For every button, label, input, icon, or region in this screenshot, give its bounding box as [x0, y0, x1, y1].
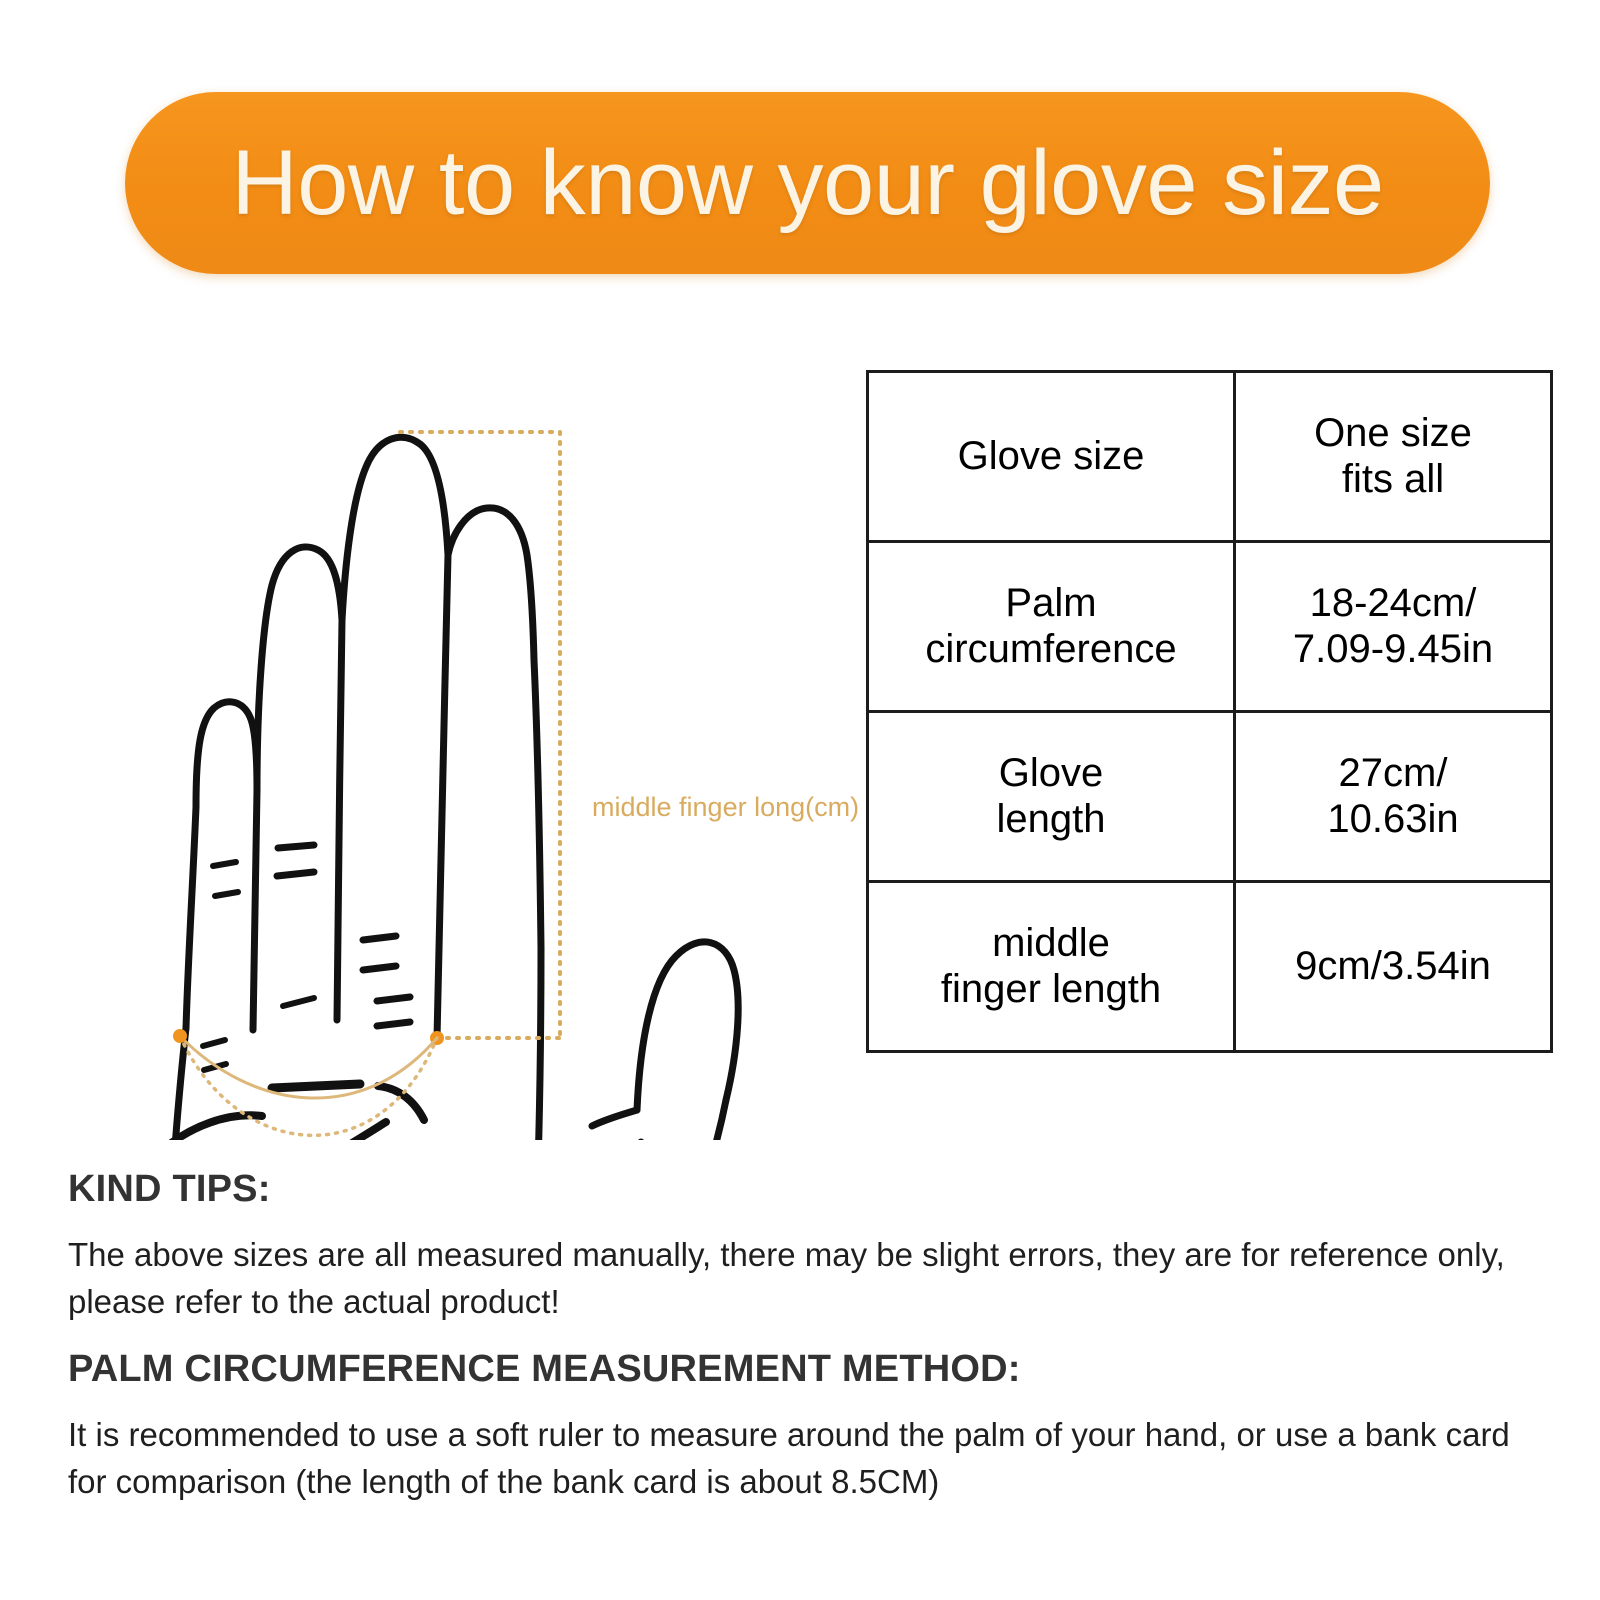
cell-text-line1: Glove [999, 751, 1104, 795]
cell-text-line2: 10.63in [1327, 797, 1458, 841]
middle-finger-label: middle finger long(cm) [592, 792, 859, 822]
middle-finger-annotation: middle finger long(cm) [400, 432, 859, 1045]
cell-text-line2: finger length [941, 967, 1161, 1011]
table-cell-label: middle finger length [868, 882, 1235, 1052]
kind-tips-body: The above sizes are all measured manuall… [68, 1232, 1536, 1326]
hand-outline-fingers [196, 702, 257, 807]
measurement-method-body: It is recommended to use a soft ruler to… [68, 1412, 1536, 1506]
table-cell-label: Glove length [868, 712, 1235, 882]
cell-text-line1: 27cm/ [1339, 751, 1448, 795]
table-cell-label: Palm circumference [868, 542, 1235, 712]
cell-text-line1: 18-24cm/ [1310, 581, 1477, 625]
cell-text-line2: fits all [1342, 457, 1444, 501]
table-row: Glove size One size fits all [868, 372, 1552, 542]
cell-text-line1: Palm [1005, 581, 1096, 625]
cell-text-line2: length [997, 797, 1106, 841]
table-row: Glove length 27cm/ 10.63in [868, 712, 1552, 882]
page-title: How to know your glove size [231, 137, 1383, 229]
cell-text: Glove size [958, 434, 1145, 478]
hand-measurement-diagram: middle finger long(cm) Palm circumferenc… [0, 320, 880, 1140]
table-row: Palm circumference 18-24cm/ 7.09-9.45in [868, 542, 1552, 712]
measurement-method-heading: PALM CIRCUMFERENCE MEASUREMENT METHOD: [68, 1348, 1021, 1391]
cell-text-line1: 9cm/3.54in [1295, 944, 1491, 988]
glove-size-table: Glove size One size fits all Palm circum… [866, 370, 1553, 1053]
table-cell-value: 27cm/ 10.63in [1235, 712, 1552, 882]
cell-text-line1: middle [992, 921, 1110, 965]
header-banner: How to know your glove size [125, 92, 1490, 274]
cell-text-line1: One size [1314, 411, 1472, 455]
table-cell-label: Glove size [868, 372, 1235, 542]
anchor-dot-palm-left [173, 1029, 187, 1043]
table-cell-value: One size fits all [1235, 372, 1552, 542]
table-row: middle finger length 9cm/3.54in [868, 882, 1552, 1052]
cell-text-line2: circumference [925, 627, 1176, 671]
table-cell-value: 9cm/3.54in [1235, 882, 1552, 1052]
cell-text-line2: 7.09-9.45in [1293, 627, 1493, 671]
table-cell-value: 18-24cm/ 7.09-9.45in [1235, 542, 1552, 712]
kind-tips-heading: KIND TIPS: [68, 1168, 271, 1211]
